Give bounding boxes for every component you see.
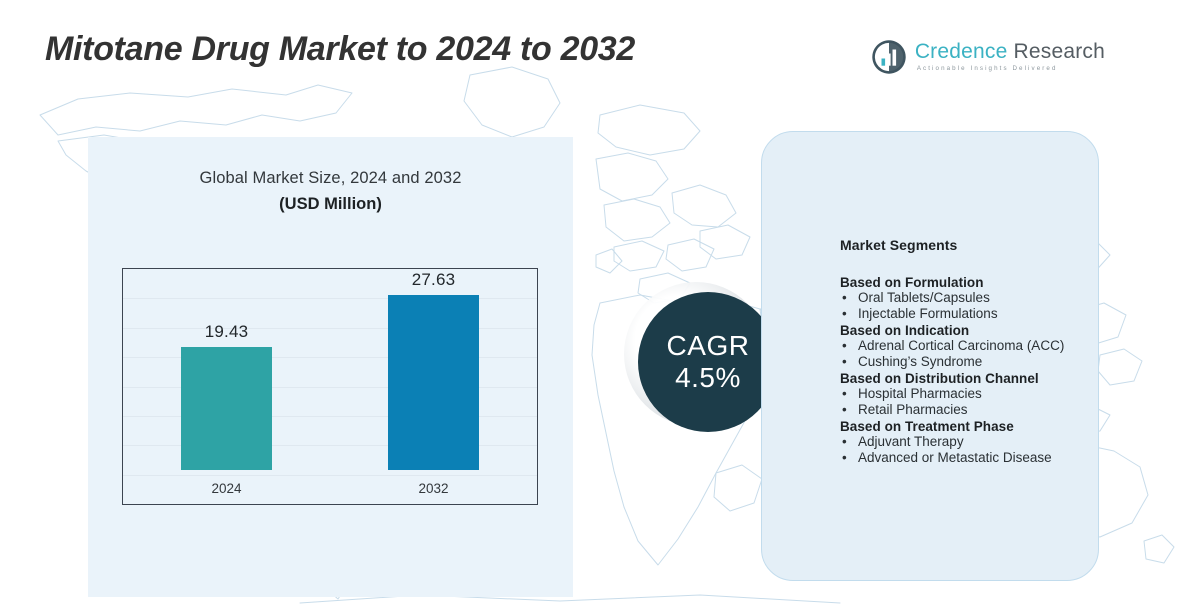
segment-item: Cushing’s Syndrome xyxy=(840,354,1100,370)
market-segments-panel: Market Segments Based on FormulationOral… xyxy=(761,131,1099,581)
bar-chart-circle-icon xyxy=(872,40,906,74)
infographic-canvas: Mitotane Drug Market to 2024 to 2032 Cre… xyxy=(0,0,1177,611)
cagr-badge: CAGR 4.5% xyxy=(624,282,778,436)
segment-group-title: Based on Formulation xyxy=(840,275,1100,290)
chart-panel: Global Market Size, 2024 and 2032 (USD M… xyxy=(88,137,573,597)
bar-group: 27.63 xyxy=(388,270,479,470)
segment-group-title: Based on Treatment Phase xyxy=(840,419,1100,434)
segment-list: Adrenal Cortical Carcinoma (ACC)Cushing’… xyxy=(840,338,1100,371)
category-label-2032: 2032 xyxy=(330,481,537,496)
cagr-label: CAGR xyxy=(667,330,750,362)
segment-list: Adjuvant TherapyAdvanced or Metastatic D… xyxy=(840,434,1100,467)
segment-group-title: Based on Indication xyxy=(840,323,1100,338)
segment-item: Oral Tablets/Capsules xyxy=(840,290,1100,306)
market-segments-heading: Market Segments xyxy=(840,237,1100,253)
segment-list: Hospital PharmaciesRetail Pharmacies xyxy=(840,386,1100,419)
chart-bars-layer: 19.4327.63 xyxy=(123,269,537,470)
gridline xyxy=(123,475,537,476)
bar-chart-plot: 19.4327.63 20242032 xyxy=(122,268,538,505)
chart-subtitle: (USD Million) xyxy=(88,195,573,214)
bar-value-label: 19.43 xyxy=(205,322,249,342)
brand-name: Credence Research xyxy=(915,41,1105,62)
bar-2032 xyxy=(388,295,479,470)
brand-tagline: Actionable Insights Delivered xyxy=(917,66,1105,72)
category-label-2024: 2024 xyxy=(123,481,330,496)
cagr-value: 4.5% xyxy=(675,362,741,394)
segment-item: Retail Pharmacies xyxy=(840,402,1100,418)
chart-title: Global Market Size, 2024 and 2032 xyxy=(88,169,573,188)
segment-item: Injectable Formulations xyxy=(840,306,1100,322)
brand-name-secondary: Research xyxy=(1014,40,1105,63)
segment-item: Adjuvant Therapy xyxy=(840,434,1100,450)
brand-logo: Credence Research Actionable Insights De… xyxy=(872,40,1105,74)
brand-name-primary: Credence xyxy=(915,40,1008,63)
segment-item: Adrenal Cortical Carcinoma (ACC) xyxy=(840,338,1100,354)
segment-group-title: Based on Distribution Channel xyxy=(840,371,1100,386)
page-title: Mitotane Drug Market to 2024 to 2032 xyxy=(45,30,635,69)
market-segments-content: Market Segments Based on FormulationOral… xyxy=(840,237,1100,467)
bar-value-label: 27.63 xyxy=(412,270,456,290)
segment-item: Hospital Pharmacies xyxy=(840,386,1100,402)
bar-group: 19.43 xyxy=(181,322,272,470)
cagr-circle: CAGR 4.5% xyxy=(638,292,778,432)
brand-text: Credence Research Actionable Insights De… xyxy=(915,41,1105,72)
segment-list: Oral Tablets/CapsulesInjectable Formulat… xyxy=(840,290,1100,323)
segment-item: Advanced or Metastatic Disease xyxy=(840,450,1100,466)
bar-2024 xyxy=(181,347,272,470)
segment-groups: Based on FormulationOral Tablets/Capsule… xyxy=(840,275,1100,467)
